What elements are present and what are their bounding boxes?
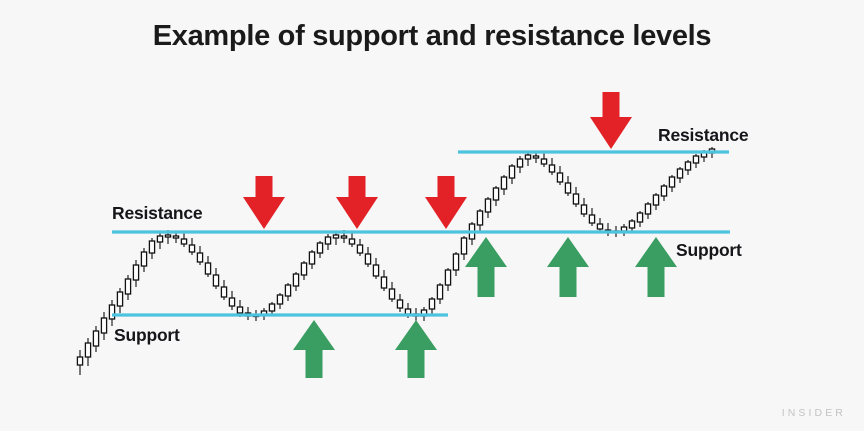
candlestick bbox=[93, 326, 98, 352]
candlestick bbox=[461, 236, 466, 260]
candlestick bbox=[125, 275, 130, 300]
candlestick bbox=[85, 338, 90, 366]
level-lines-group bbox=[112, 152, 730, 315]
chart-canvas: Example of support and resistance levels… bbox=[0, 0, 864, 431]
candlestick bbox=[229, 291, 234, 310]
candlestick bbox=[445, 268, 450, 291]
support-label-right: Support bbox=[676, 240, 742, 261]
candlestick bbox=[437, 283, 442, 304]
candlestick bbox=[669, 175, 674, 192]
up-arrow bbox=[635, 237, 677, 297]
candlestick bbox=[349, 233, 354, 247]
candlestick bbox=[325, 234, 330, 250]
candlestick bbox=[101, 312, 106, 340]
candlestick bbox=[157, 232, 162, 249]
up-arrow bbox=[547, 237, 589, 297]
candlestick bbox=[317, 241, 322, 258]
candlestick bbox=[381, 270, 386, 291]
up-arrow bbox=[395, 320, 437, 378]
annotation-arrows-group bbox=[243, 92, 677, 378]
candlestick bbox=[389, 282, 394, 302]
candlestick bbox=[285, 283, 290, 301]
candlestick bbox=[597, 218, 602, 232]
candlestick bbox=[429, 297, 434, 314]
candlestick bbox=[517, 156, 522, 173]
candlestick bbox=[117, 288, 122, 313]
candlestick bbox=[637, 211, 642, 227]
candlestick bbox=[133, 260, 138, 287]
candlestick bbox=[573, 187, 578, 207]
candlestick bbox=[645, 202, 650, 219]
candlestick bbox=[213, 268, 218, 289]
candlestick bbox=[565, 176, 570, 196]
candlestick bbox=[397, 294, 402, 312]
down-arrow bbox=[425, 176, 467, 229]
candlestick bbox=[221, 280, 226, 300]
candlestick bbox=[141, 248, 146, 272]
candlestick bbox=[109, 300, 114, 326]
candlestick bbox=[477, 209, 482, 231]
candlestick bbox=[549, 158, 554, 175]
candlestick bbox=[501, 175, 506, 195]
candlestick bbox=[509, 164, 514, 184]
candlestick bbox=[557, 166, 562, 185]
candlestick bbox=[581, 198, 586, 217]
candlestick bbox=[605, 223, 610, 236]
candlestick bbox=[293, 272, 298, 291]
candlestick bbox=[589, 208, 594, 226]
candlestick bbox=[309, 250, 314, 269]
candlestick bbox=[149, 238, 154, 259]
candlestick bbox=[197, 246, 202, 265]
up-arrow bbox=[293, 320, 335, 378]
insider-watermark: INSIDER bbox=[782, 407, 846, 419]
candlestick bbox=[373, 258, 378, 279]
down-arrow bbox=[336, 176, 378, 229]
candlestick bbox=[205, 256, 210, 277]
candlestick bbox=[365, 247, 370, 267]
candlestick bbox=[541, 153, 546, 167]
candlestick bbox=[693, 154, 698, 168]
support-label-left: Support bbox=[114, 325, 180, 346]
candlestick bbox=[621, 224, 626, 236]
candlestick bbox=[661, 184, 666, 201]
candlestick bbox=[181, 233, 186, 247]
candlestick bbox=[189, 238, 194, 255]
candlestick bbox=[653, 193, 658, 210]
candlestick bbox=[525, 152, 530, 166]
candlestick bbox=[485, 197, 490, 218]
resistance-label-left: Resistance bbox=[112, 203, 202, 224]
candlestick bbox=[301, 261, 306, 280]
candlestick bbox=[677, 167, 682, 183]
candlestick bbox=[453, 252, 458, 276]
candlestick bbox=[493, 186, 498, 206]
down-arrow bbox=[590, 92, 632, 149]
candlestick bbox=[77, 350, 82, 375]
candlestick bbox=[685, 160, 690, 175]
candlestick bbox=[277, 293, 282, 309]
up-arrow bbox=[465, 237, 507, 297]
resistance-label-right: Resistance bbox=[658, 125, 748, 146]
candlestick bbox=[357, 239, 362, 256]
down-arrow bbox=[243, 176, 285, 229]
